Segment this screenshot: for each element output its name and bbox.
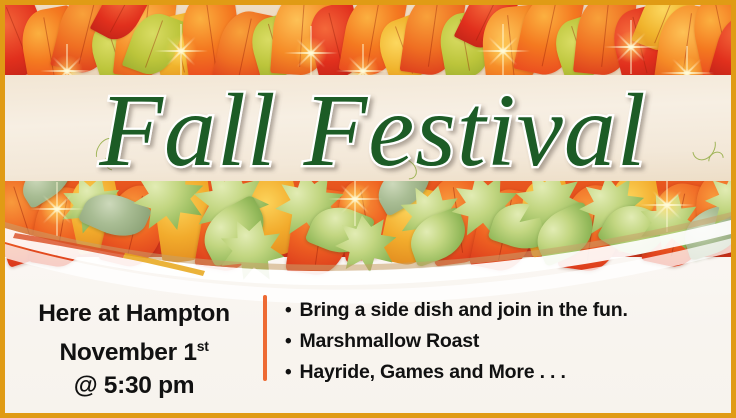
sparkle-starburst (660, 46, 714, 75)
event-date-ordinal: st (197, 338, 209, 354)
fall-festival-flyer: Fall Festival Here at Hampton November 1… (0, 0, 736, 418)
autumn-leaf-border-top (5, 5, 731, 75)
list-item-label: Marshmallow Roast (299, 326, 479, 357)
bullet-icon: • (285, 357, 291, 388)
list-item: • Marshmallow Roast (285, 326, 731, 357)
event-date-number: November 1 (59, 339, 196, 366)
event-date: November 1st (5, 330, 263, 369)
list-item: • Bring a side dish and join in the fun. (285, 295, 731, 326)
sparkle-starburst (154, 24, 208, 75)
autumn-leaf-border-middle (5, 181, 731, 297)
bullet-icon: • (285, 326, 291, 357)
event-location: Here at Hampton (5, 297, 263, 330)
sparkle-starburst (30, 182, 84, 236)
sparkle-starburst (640, 181, 694, 232)
event-info-block: Here at Hampton November 1st @ 5:30 pm (5, 289, 263, 402)
sparkle-starburst (40, 44, 94, 75)
sparkle-starburst (604, 20, 658, 74)
leaf-cluster-top (5, 5, 731, 75)
list-item-label: Bring a side dish and join in the fun. (299, 295, 627, 326)
event-time: @ 5:30 pm (5, 369, 263, 402)
list-item: • Hayride, Games and More . . . (285, 357, 731, 388)
sparkle-starburst (328, 181, 382, 226)
activities-list: • Bring a side dish and join in the fun.… (267, 289, 731, 388)
list-item-label: Hayride, Games and More . . . (299, 357, 565, 388)
bullet-icon: • (285, 295, 291, 326)
sparkle-starburst (284, 26, 338, 75)
sparkle-starburst (336, 44, 390, 75)
sparkle-starburst (476, 24, 530, 75)
flyer-details: Here at Hampton November 1st @ 5:30 pm •… (5, 289, 731, 413)
